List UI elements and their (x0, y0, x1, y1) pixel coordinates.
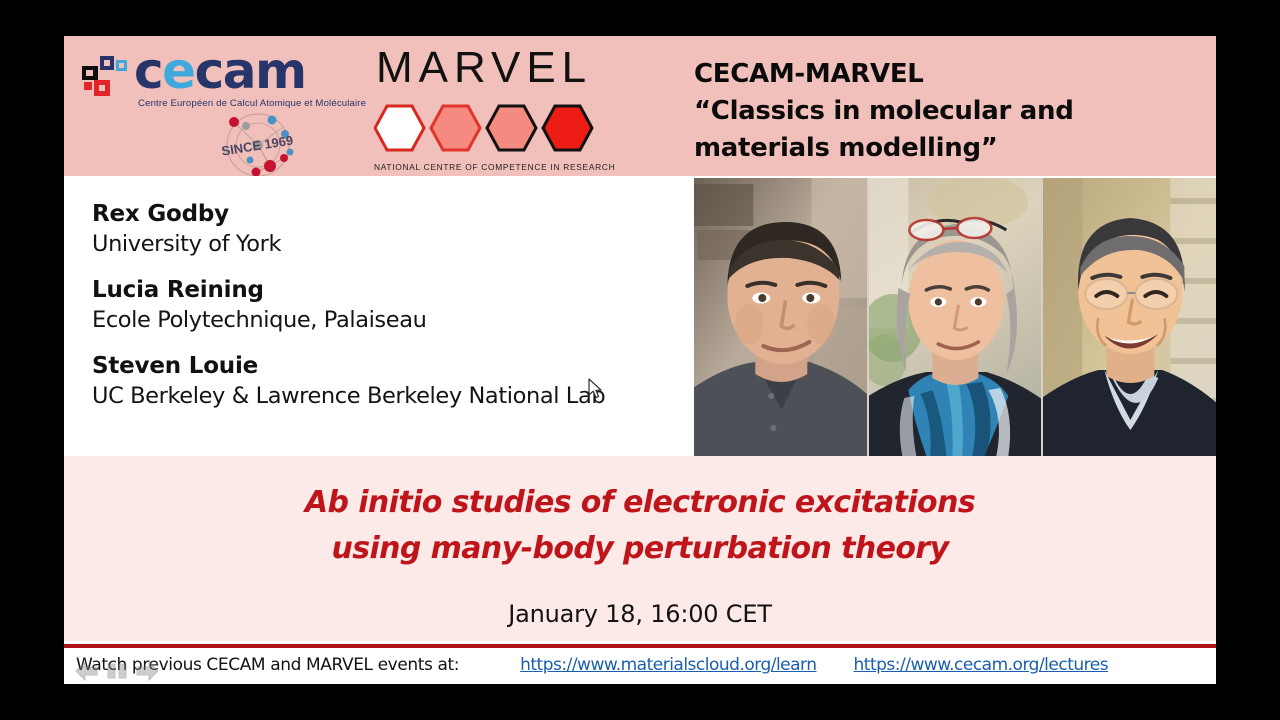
lecture-title-line-2: using many-body perturbation theory (64, 526, 1216, 572)
slide-footer: Watch previous CECAM and MARVEL events a… (64, 648, 1216, 684)
materialscloud-learn-link[interactable]: https://www.materialscloud.org/learn (520, 655, 816, 675)
series-title-line-2: “Classics in molecular and (694, 93, 1194, 130)
marvel-wordmark: MARVEL (376, 46, 592, 90)
lecture-title-line-1: Ab initio studies of electronic excitati… (64, 480, 1216, 526)
presentation-slide: cecam Centre Européen de Calcul Atomique… (64, 36, 1216, 684)
speaker-photo-rex-godby (694, 178, 867, 456)
speaker-entry: Steven Louie UC Berkeley & Lawrence Berk… (92, 352, 692, 411)
cecam-pixel-mark-icon (82, 56, 130, 100)
lecture-title: Ab initio studies of electronic excitati… (64, 480, 1216, 572)
lecture-datetime: January 18, 16:00 CET (64, 600, 1216, 628)
speaker-photo-steven-louie (1043, 178, 1216, 456)
speaker-affiliation: Ecole Polytechnique, Palaiseau (92, 306, 692, 335)
series-title-line-3: materials modelling” (694, 130, 1194, 167)
speaker-entry: Rex Godby University of York (92, 200, 692, 259)
cecam-lectures-link[interactable]: https://www.cecam.org/lectures (854, 655, 1109, 675)
series-title: CECAM-MARVEL “Classics in molecular and … (694, 56, 1194, 167)
cecam-logo: cecam Centre Européen de Calcul Atomique… (82, 50, 382, 174)
speaker-photo-strip (694, 178, 1216, 456)
cecam-wordmark-c1: c (134, 42, 162, 100)
cecam-wordmark-e: e (162, 42, 194, 100)
previous-slide-button[interactable] (74, 658, 100, 684)
cecam-wordmark: cecam (134, 46, 306, 96)
cecam-since-1969-badge-icon: SINCE 1969 (212, 112, 304, 182)
speaker-entry: Lucia Reining Ecole Polytechnique, Palai… (92, 276, 692, 335)
speaker-affiliation: UC Berkeley & Lawrence Berkeley National… (92, 382, 692, 411)
speakers-list: Rex Godby University of York Lucia Reini… (92, 200, 692, 411)
marvel-hexagons-icon (374, 102, 600, 158)
slide-navigation-overlay[interactable] (74, 656, 166, 684)
speaker-affiliation: University of York (92, 230, 692, 259)
series-title-line-1: CECAM-MARVEL (694, 56, 1194, 93)
pause-icon (106, 661, 128, 681)
marvel-tagline: NATIONAL CENTRE OF COMPETENCE IN RESEARC… (374, 162, 600, 172)
video-player-stage: cecam Centre Européen de Calcul Atomique… (0, 0, 1280, 720)
speaker-name: Lucia Reining (92, 276, 692, 304)
cecam-wordmark-rest: cam (195, 42, 306, 100)
next-slide-button[interactable] (134, 658, 160, 684)
previous-arrow-icon (75, 660, 99, 682)
cecam-tagline: Centre Européen de Calcul Atomique et Mo… (138, 98, 366, 109)
lecture-title-band: Ab initio studies of electronic excitati… (64, 456, 1216, 641)
slide-header-band: cecam Centre Européen de Calcul Atomique… (64, 36, 1216, 176)
pause-button[interactable] (104, 658, 130, 684)
speaker-name: Steven Louie (92, 352, 692, 380)
next-arrow-icon (135, 660, 159, 682)
speaker-photo-lucia-reining (869, 178, 1042, 456)
speakers-section: Rex Godby University of York Lucia Reini… (64, 176, 1216, 456)
speaker-name: Rex Godby (92, 200, 692, 228)
marvel-logo: MARVEL NATIONAL CENTRE OF COMPETENCE IN … (374, 46, 674, 172)
footer-row: Watch previous CECAM and MARVEL events a… (76, 655, 1108, 675)
